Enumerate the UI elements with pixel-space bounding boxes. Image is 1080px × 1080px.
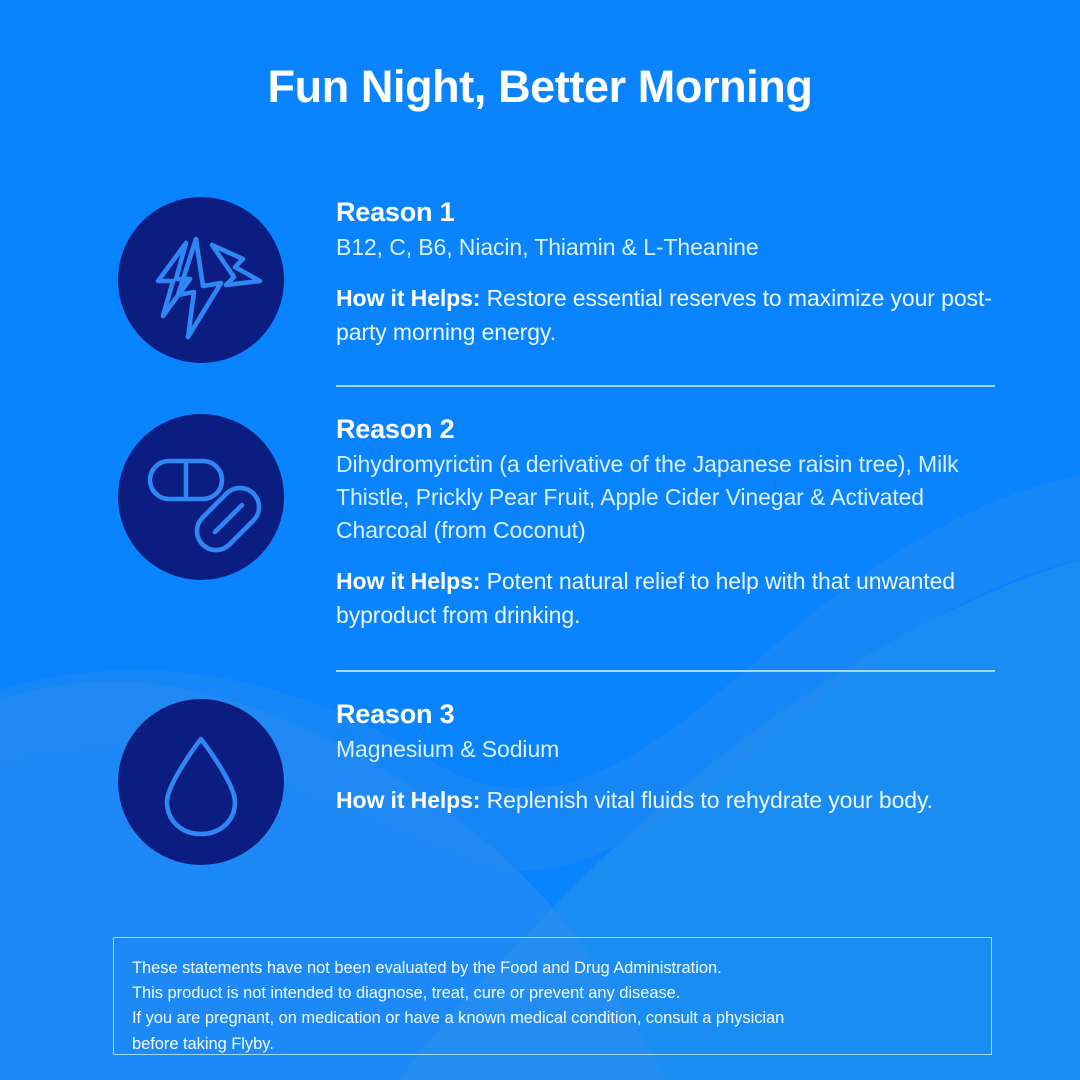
disclaimer-line-2: This product is not intended to diagnose… xyxy=(132,981,971,1006)
reason-body-2: Reason 2 Dihydromyrictin (a derivative o… xyxy=(336,414,996,633)
pills-icon xyxy=(118,414,284,580)
reason-ingredients: B12, C, B6, Niacin, Thiamin & L-Theanine xyxy=(336,231,996,264)
section-divider-2 xyxy=(336,670,995,672)
infographic-page: Fun Night, Better Morning Reason 1 B12, … xyxy=(0,0,1080,1080)
section-divider-1 xyxy=(336,385,995,387)
disclaimer-box: These statements have not been evaluated… xyxy=(113,937,992,1055)
reason-body-3: Reason 3 Magnesium & Sodium How it Helps… xyxy=(336,699,996,818)
reason-helps-label: How it Helps: xyxy=(336,568,480,594)
reason-ingredients: Dihydromyrictin (a derivative of the Jap… xyxy=(336,448,996,547)
disclaimer-line-3: If you are pregnant, on medication or ha… xyxy=(132,1006,971,1031)
reason-helps: How it Helps: Restore essential reserves… xyxy=(336,282,996,350)
reason-helps-text: Replenish vital fluids to rehydrate your… xyxy=(487,787,933,813)
disclaimer-line-1: These statements have not been evaluated… xyxy=(132,956,971,981)
reason-helps-label: How it Helps: xyxy=(336,787,480,813)
lightning-bolts-icon xyxy=(118,197,284,363)
reason-title: Reason 1 xyxy=(336,197,996,229)
disclaimer-line-4: before taking Flyby. xyxy=(132,1032,971,1057)
page-title: Fun Night, Better Morning xyxy=(0,62,1080,112)
reason-title: Reason 2 xyxy=(336,414,996,446)
water-droplet-icon xyxy=(118,699,284,865)
reason-title: Reason 3 xyxy=(336,699,996,731)
reason-helps: How it Helps: Replenish vital fluids to … xyxy=(336,784,996,818)
reason-helps: How it Helps: Potent natural relief to h… xyxy=(336,565,996,633)
reason-body-1: Reason 1 B12, C, B6, Niacin, Thiamin & L… xyxy=(336,197,996,350)
reason-helps-label: How it Helps: xyxy=(336,285,480,311)
reason-ingredients: Magnesium & Sodium xyxy=(336,733,996,766)
